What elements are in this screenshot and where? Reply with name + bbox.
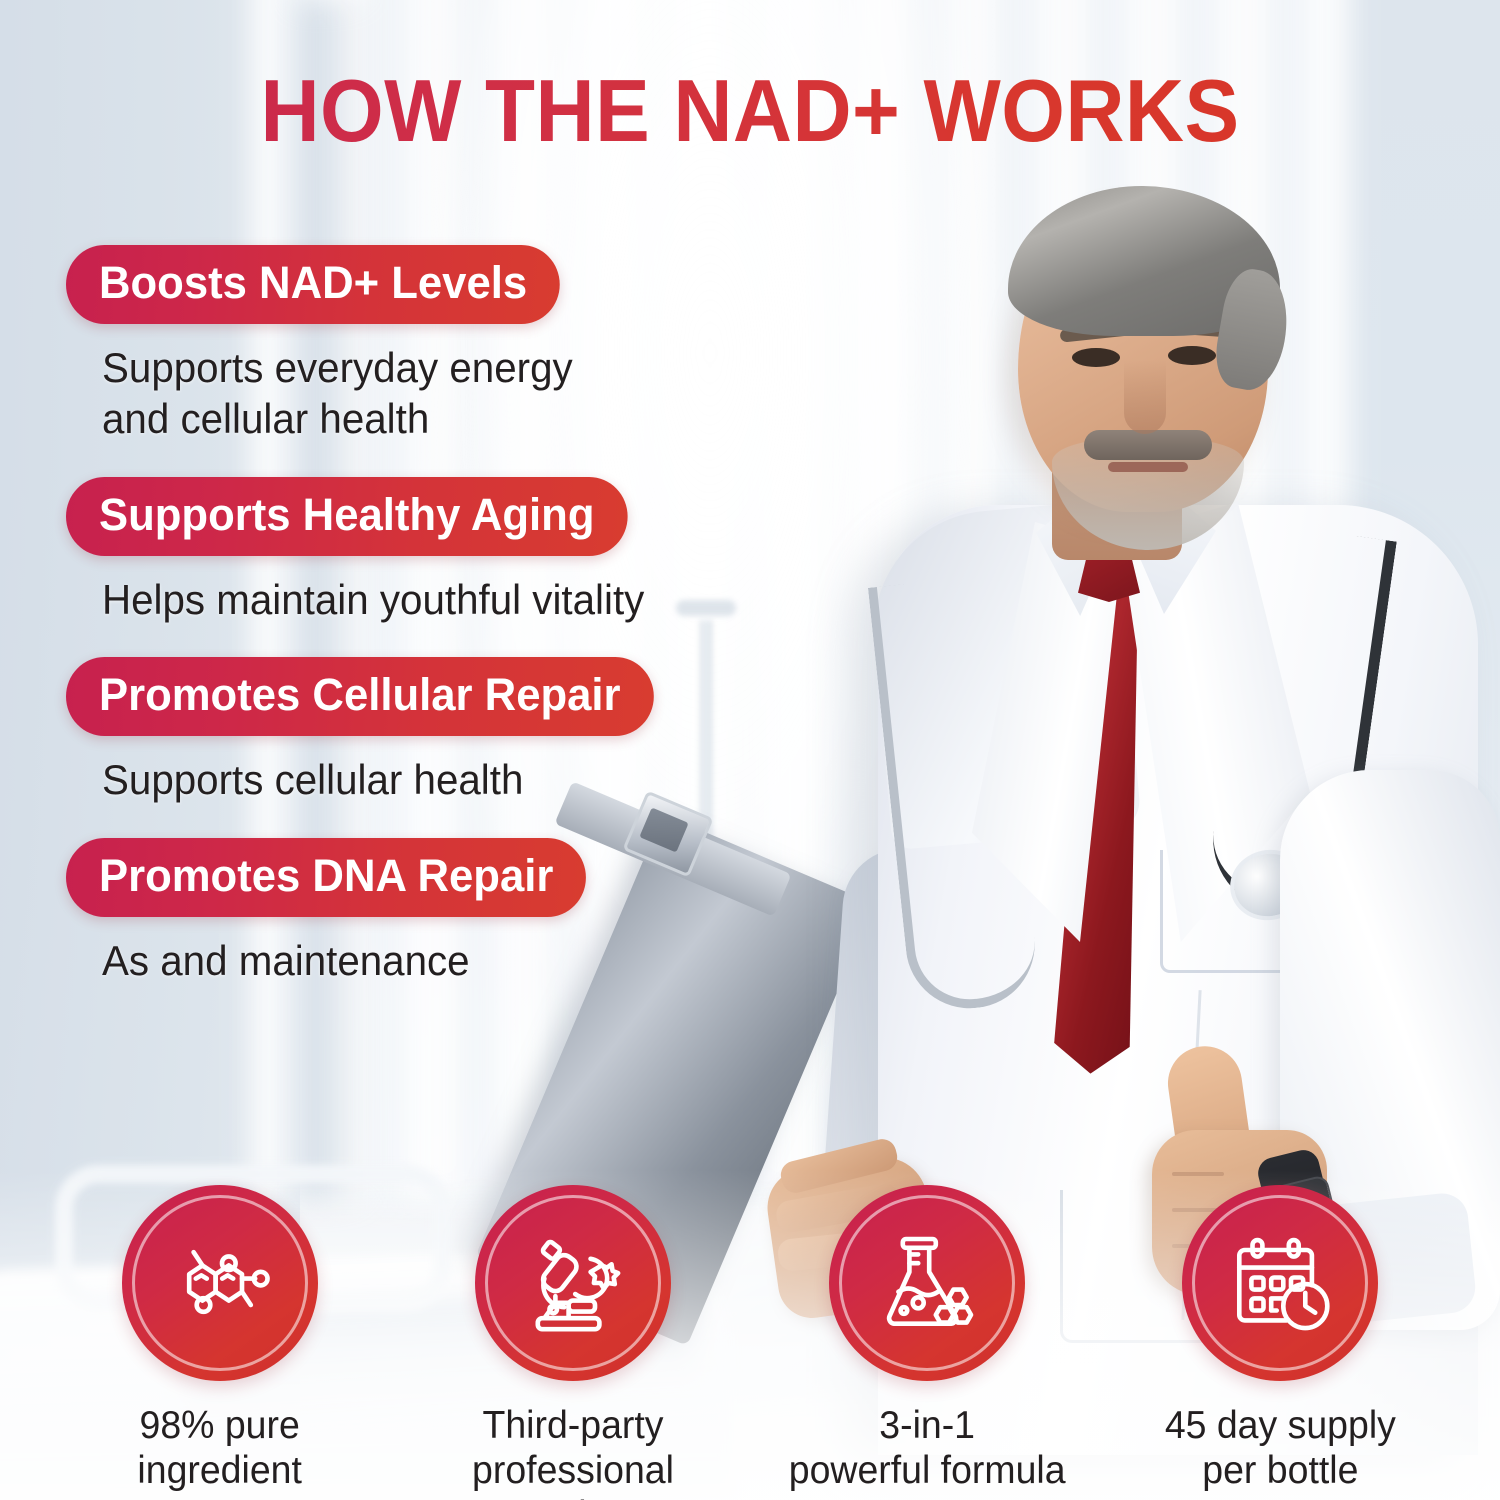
doctor-eye-right: [1168, 346, 1216, 365]
flask-icon: [872, 1228, 982, 1338]
calendar-clock-icon: [1225, 1228, 1335, 1338]
benefit-item: Promotes DNA Repair As and maintenance: [66, 838, 896, 986]
benefit-pill[interactable]: Promotes DNA Repair: [66, 838, 586, 917]
benefit-pill-label: Supports Healthy Aging: [99, 491, 595, 538]
benefit-description: Supports everyday energy and cellular he…: [102, 342, 864, 444]
doctor-mouth: [1108, 462, 1188, 472]
trust-badge: 45 day supply per bottle: [1130, 1185, 1430, 1500]
benefit-description: As and maintenance: [102, 935, 864, 986]
badge-circle: [475, 1185, 671, 1381]
benefit-pill[interactable]: Boosts NAD+ Levels: [66, 245, 560, 324]
benefits-list: Boosts NAD+ Levels Supports everyday ene…: [66, 245, 896, 1018]
benefit-description: Helps maintain youthful vitality: [102, 574, 864, 625]
badge-label: 45 day supply per bottle: [1164, 1403, 1395, 1493]
badge-circle: [1182, 1185, 1378, 1381]
benefit-pill[interactable]: Promotes Cellular Repair: [66, 657, 654, 736]
badge-circle: [829, 1185, 1025, 1381]
doctor-nose: [1124, 360, 1166, 434]
molecule-icon: [165, 1228, 275, 1338]
benefit-pill-label: Boosts NAD+ Levels: [99, 259, 527, 306]
page-title: HOW THE NAD+ WORKS: [53, 60, 1448, 162]
doctor-moustache: [1084, 430, 1212, 460]
benefit-pill[interactable]: Supports Healthy Aging: [66, 477, 627, 556]
benefit-item: Supports Healthy Aging Helps maintain yo…: [66, 477, 896, 625]
benefit-item: Promotes Cellular Repair Supports cellul…: [66, 657, 896, 805]
benefit-pill-label: Promotes DNA Repair: [99, 852, 553, 899]
badge-circle: [122, 1185, 318, 1381]
benefit-pill-label: Promotes Cellular Repair: [99, 671, 621, 718]
infographic-canvas: HOW THE NAD+ WORKS Boosts NAD+ Levels Su…: [0, 0, 1500, 1500]
badge-label: 98% pure ingredient: [138, 1403, 302, 1493]
trust-badge: Third-party professional testing: [423, 1185, 723, 1500]
badge-label: Third-party professional testing: [429, 1403, 717, 1500]
doctor-eye-left: [1072, 348, 1120, 367]
trust-badge: 98% pure ingredient: [70, 1185, 370, 1500]
microscope-icon: [518, 1228, 628, 1338]
benefit-item: Boosts NAD+ Levels Supports everyday ene…: [66, 245, 896, 445]
badge-label: 3-in-1 powerful formula: [788, 1403, 1065, 1493]
trust-badge: 3-in-1 powerful formula: [777, 1185, 1077, 1500]
trust-badges-row: 98% pure ingredient Third-party professi…: [0, 1185, 1500, 1500]
benefit-description: Supports cellular health: [102, 754, 864, 805]
